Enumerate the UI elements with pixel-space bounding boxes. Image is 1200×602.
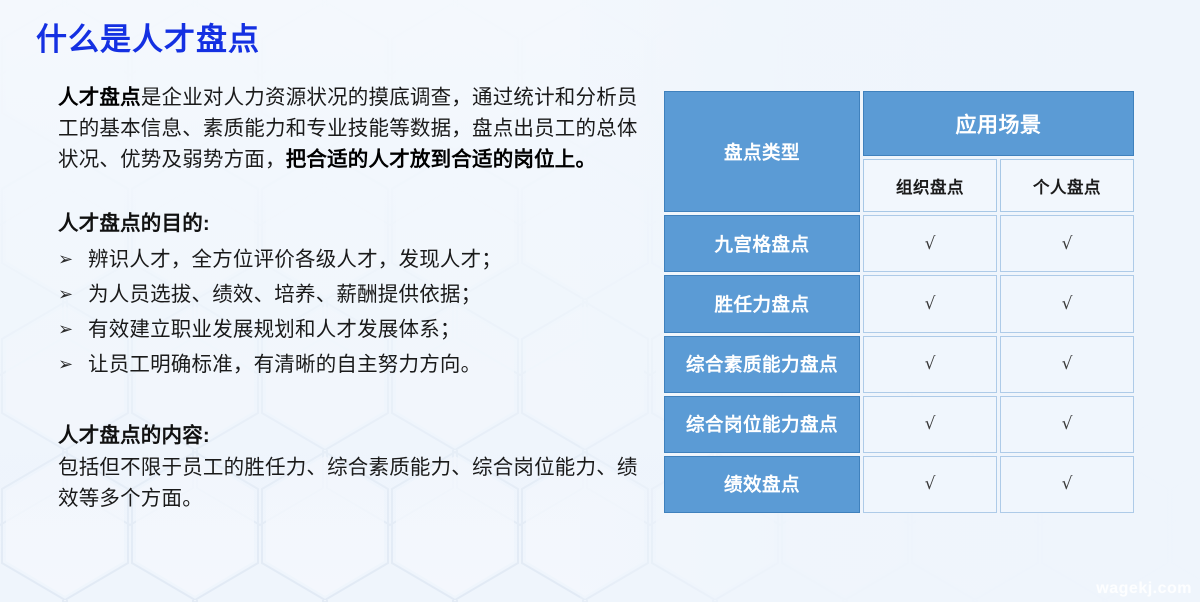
check-cell-individual: √	[1000, 396, 1134, 453]
subheader-organization: 组织盘点	[863, 159, 997, 212]
intro-paragraph: 人才盘点是企业对人力资源状况的摸底调查，通过统计和分析员工的基本信息、素质能力和…	[58, 82, 638, 175]
arrow-bullet-icon: ➢	[58, 242, 88, 277]
check-cell-org: √	[863, 396, 997, 453]
list-item: ➢ 为人员选拔、绩效、培养、薪酬提供依据；	[58, 277, 638, 312]
table-header-row: 盘点类型 应用场景	[664, 91, 1134, 156]
row-label: 胜任力盘点	[664, 275, 860, 332]
slide-root: 什么是人才盘点 人才盘点是企业对人力资源状况的摸底调查，通过统计和分析员工的基本…	[0, 0, 1200, 602]
check-cell-org: √	[863, 215, 997, 272]
check-cell-individual: √	[1000, 275, 1134, 332]
left-content-column: 人才盘点是企业对人力资源状况的摸底调查，通过统计和分析员工的基本信息、素质能力和…	[58, 82, 638, 514]
content-section: 人才盘点的内容: 包括但不限于员工的胜任力、综合素质能力、综合岗位能力、绩效等多…	[58, 418, 638, 514]
row-label: 综合岗位能力盘点	[664, 396, 860, 453]
list-item: ➢ 辨识人才，全方位评价各级人才，发现人才；	[58, 242, 638, 277]
purpose-item-text: 有效建立职业发展规划和人才发展体系；	[88, 312, 638, 347]
content-body-text: 包括但不限于员工的胜任力、综合素质能力、综合岗位能力、绩效等多个方面。	[58, 452, 638, 514]
row-label: 综合素质能力盘点	[664, 336, 860, 393]
table-row: 胜任力盘点 √ √	[664, 275, 1134, 332]
watermark: wagekj.com	[1096, 580, 1192, 598]
purpose-item-text: 让员工明确标准，有清晰的自主努力方向。	[88, 347, 638, 382]
check-cell-org: √	[863, 275, 997, 332]
check-cell-individual: √	[1000, 215, 1134, 272]
table-row: 九宫格盘点 √ √	[664, 215, 1134, 272]
row-label: 九宫格盘点	[664, 215, 860, 272]
arrow-bullet-icon: ➢	[58, 347, 88, 382]
purpose-item-text: 为人员选拔、绩效、培养、薪酬提供依据；	[88, 277, 638, 312]
intro-lead-term: 人才盘点	[58, 86, 141, 109]
content-heading: 人才盘点的内容:	[58, 418, 638, 448]
purpose-item-text: 辨识人才，全方位评价各级人才，发现人才；	[88, 242, 638, 277]
list-item: ➢ 有效建立职业发展规划和人才发展体系；	[58, 312, 638, 347]
arrow-bullet-icon: ➢	[58, 312, 88, 347]
purpose-section: 人才盘点的目的: ➢ 辨识人才，全方位评价各级人才，发现人才； ➢ 为人员选拔、…	[58, 206, 638, 382]
check-cell-individual: √	[1000, 336, 1134, 393]
check-cell-org: √	[863, 456, 997, 513]
check-cell-org: √	[863, 336, 997, 393]
header-application-scenario: 应用场景	[863, 91, 1134, 156]
row-label: 绩效盘点	[664, 456, 860, 513]
subheader-individual: 个人盘点	[1000, 159, 1134, 212]
arrow-bullet-icon: ➢	[58, 277, 88, 312]
table-row: 综合素质能力盘点 √ √	[664, 336, 1134, 393]
purpose-heading: 人才盘点的目的:	[58, 206, 638, 236]
table-row: 绩效盘点 √ √	[664, 456, 1134, 513]
purpose-bullet-list: ➢ 辨识人才，全方位评价各级人才，发现人才； ➢ 为人员选拔、绩效、培养、薪酬提…	[58, 242, 638, 382]
check-cell-individual: √	[1000, 456, 1134, 513]
intro-emphasis-text: 把合适的人才放到合适的岗位上。	[286, 148, 597, 171]
table-row: 综合岗位能力盘点 √ √	[664, 396, 1134, 453]
inventory-types-table: 盘点类型 应用场景 组织盘点 个人盘点 九宫格盘点 √ √ 胜任力盘点 √ √	[661, 88, 1131, 516]
page-title: 什么是人才盘点	[36, 14, 260, 59]
header-inventory-type: 盘点类型	[664, 91, 860, 212]
list-item: ➢ 让员工明确标准，有清晰的自主努力方向。	[58, 347, 638, 382]
